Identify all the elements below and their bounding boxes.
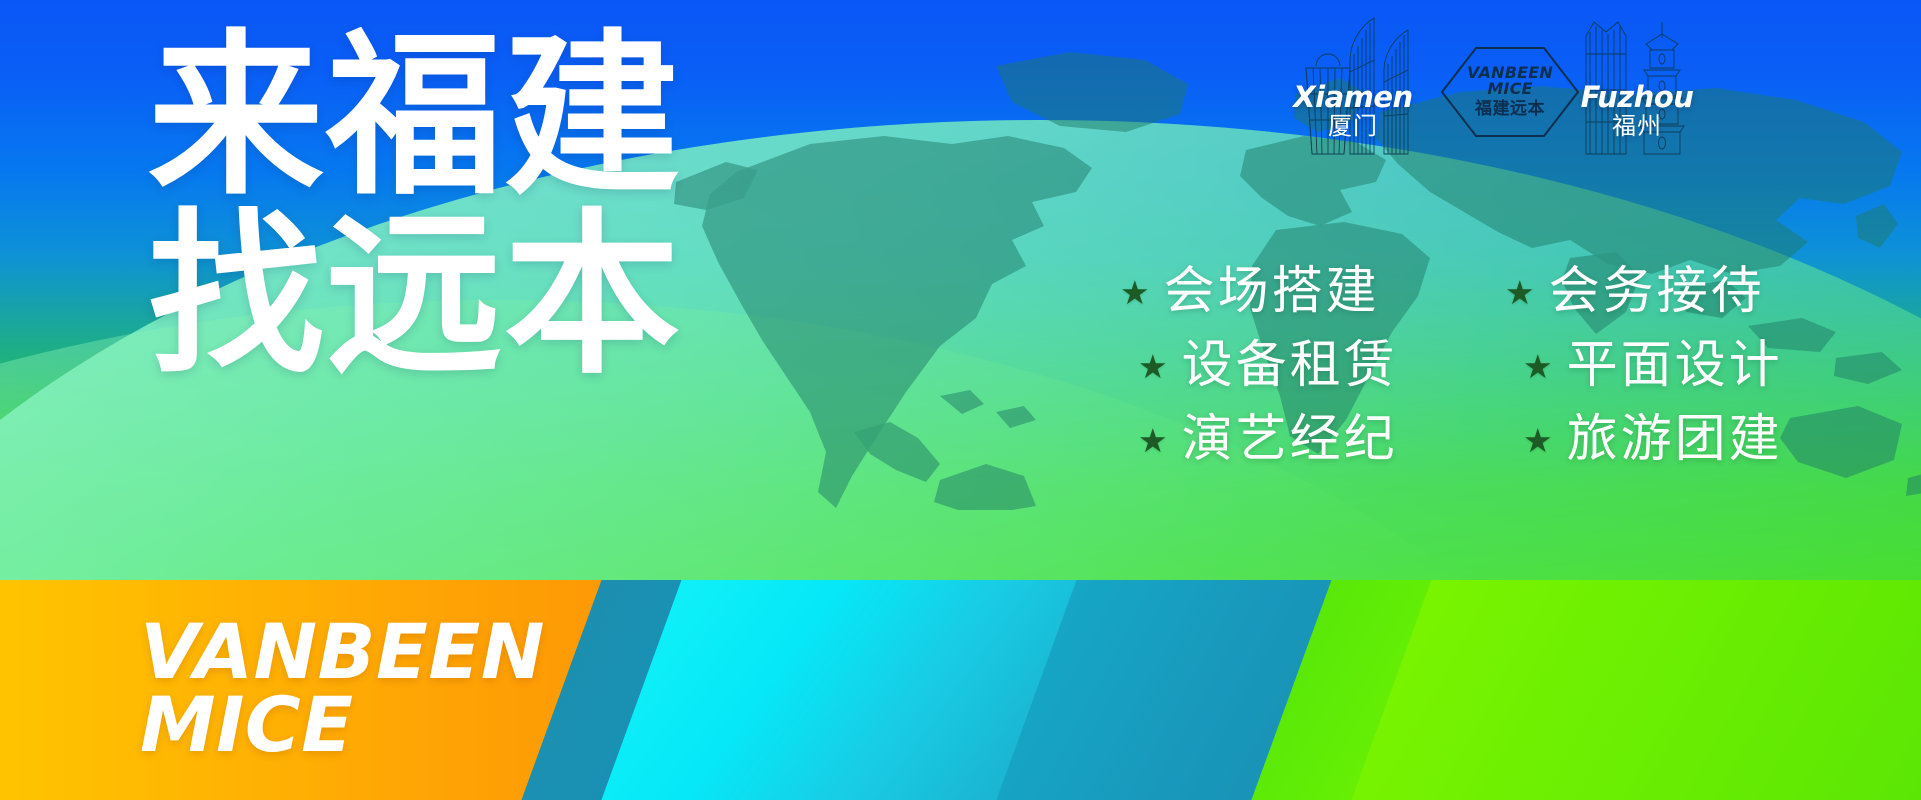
star-icon: ★ <box>1120 276 1150 309</box>
star-icon: ★ <box>1138 424 1168 457</box>
vanbeen-hexagon-logo: VANBEEN MICE 福建远本 <box>1440 46 1580 138</box>
services-row: ★ 设备租赁 ★ 平面设计 <box>1138 336 1910 396</box>
service-item: ★ 旅游团建 <box>1523 410 1908 470</box>
service-label: 会务接待 <box>1549 262 1765 322</box>
footer-brand-line-2: MICE <box>140 689 545 762</box>
logo-line-2: MICE <box>1487 81 1532 97</box>
star-icon: ★ <box>1523 424 1553 457</box>
star-icon: ★ <box>1505 276 1535 309</box>
city-label-fuzhou: Fuzhou 福州 <box>1562 82 1712 140</box>
service-item: ★ 会务接待 <box>1505 262 1890 322</box>
star-icon: ★ <box>1138 350 1168 383</box>
service-label: 设备租赁 <box>1182 336 1398 396</box>
city-name-cn-xiamen: 厦门 <box>1282 113 1424 140</box>
service-item: ★ 设备租赁 <box>1138 336 1523 396</box>
service-item: ★ 平面设计 <box>1523 336 1908 396</box>
city-name-cn-fuzhou: 福州 <box>1562 113 1712 140</box>
headline-line-1: 来福建 <box>148 34 682 199</box>
diagonal-band-green <box>1341 580 1921 800</box>
services-list: ★ 会场搭建 ★ 会务接待 ★ 设备租赁 ★ 平面设计 <box>1120 262 1910 471</box>
service-item: ★ 演艺经纪 <box>1138 410 1523 470</box>
city-landmark-strip: Xiamen 厦门 Fuzhou 福州 VANBEEN MICE 福建远本 <box>1294 8 1714 178</box>
service-label: 旅游团建 <box>1567 410 1783 470</box>
services-row: ★ 会场搭建 ★ 会务接待 <box>1120 262 1910 322</box>
promotional-banner: 来福建 找远本 <box>0 0 1921 800</box>
service-label: 平面设计 <box>1567 336 1783 396</box>
services-row: ★ 演艺经纪 ★ 旅游团建 <box>1138 410 1910 470</box>
city-name-en-xiamen: Xiamen <box>1282 82 1424 112</box>
service-item: ★ 会场搭建 <box>1120 262 1505 322</box>
logo-line-3: 福建远本 <box>1475 100 1545 120</box>
page-title: 来福建 找远本 <box>148 34 682 379</box>
footer-brand-name: VANBEEN MICE <box>140 616 545 762</box>
headline-line-2: 找远本 <box>148 213 682 378</box>
banner-stage: 来福建 找远本 <box>0 0 1921 580</box>
star-icon: ★ <box>1523 350 1553 383</box>
service-label: 演艺经纪 <box>1182 410 1398 470</box>
city-label-xiamen: Xiamen 厦门 <box>1282 82 1424 140</box>
service-label: 会场搭建 <box>1164 262 1380 322</box>
footer-brand-bar: VANBEEN MICE <box>0 580 1921 800</box>
city-name-en-fuzhou: Fuzhou <box>1562 82 1712 112</box>
